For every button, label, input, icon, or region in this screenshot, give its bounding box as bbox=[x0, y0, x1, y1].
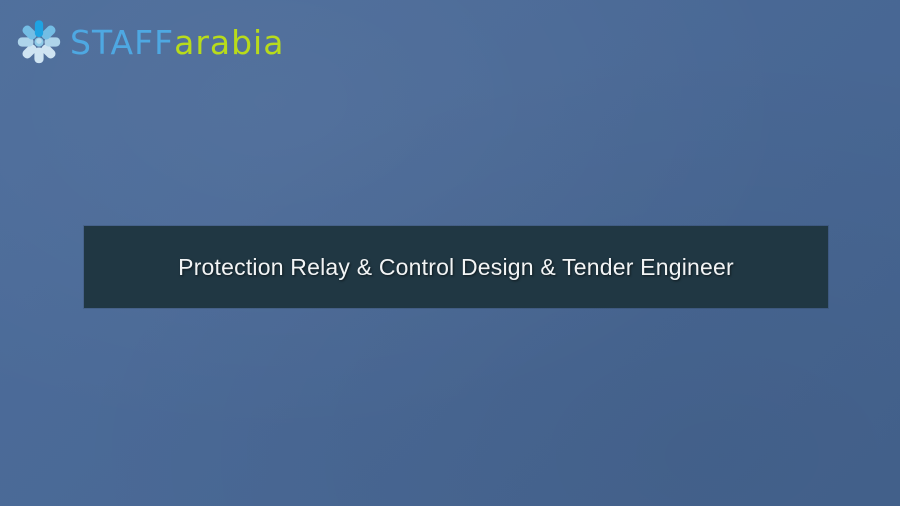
presentation-slide: STAFFarabia Protection Relay & Control D… bbox=[0, 0, 900, 506]
slide-title: Protection Relay & Control Design & Tend… bbox=[178, 254, 734, 281]
staffarabia-logo[interactable]: STAFFarabia bbox=[16, 19, 284, 65]
title-banner: Protection Relay & Control Design & Tend… bbox=[84, 226, 828, 308]
logo-wordmark: STAFFarabia bbox=[70, 26, 284, 59]
staffarabia-pinwheel-logo-icon bbox=[16, 19, 62, 65]
logo-word-arabia: arabia bbox=[174, 26, 284, 59]
logo-word-staff: STAFF bbox=[70, 26, 174, 59]
